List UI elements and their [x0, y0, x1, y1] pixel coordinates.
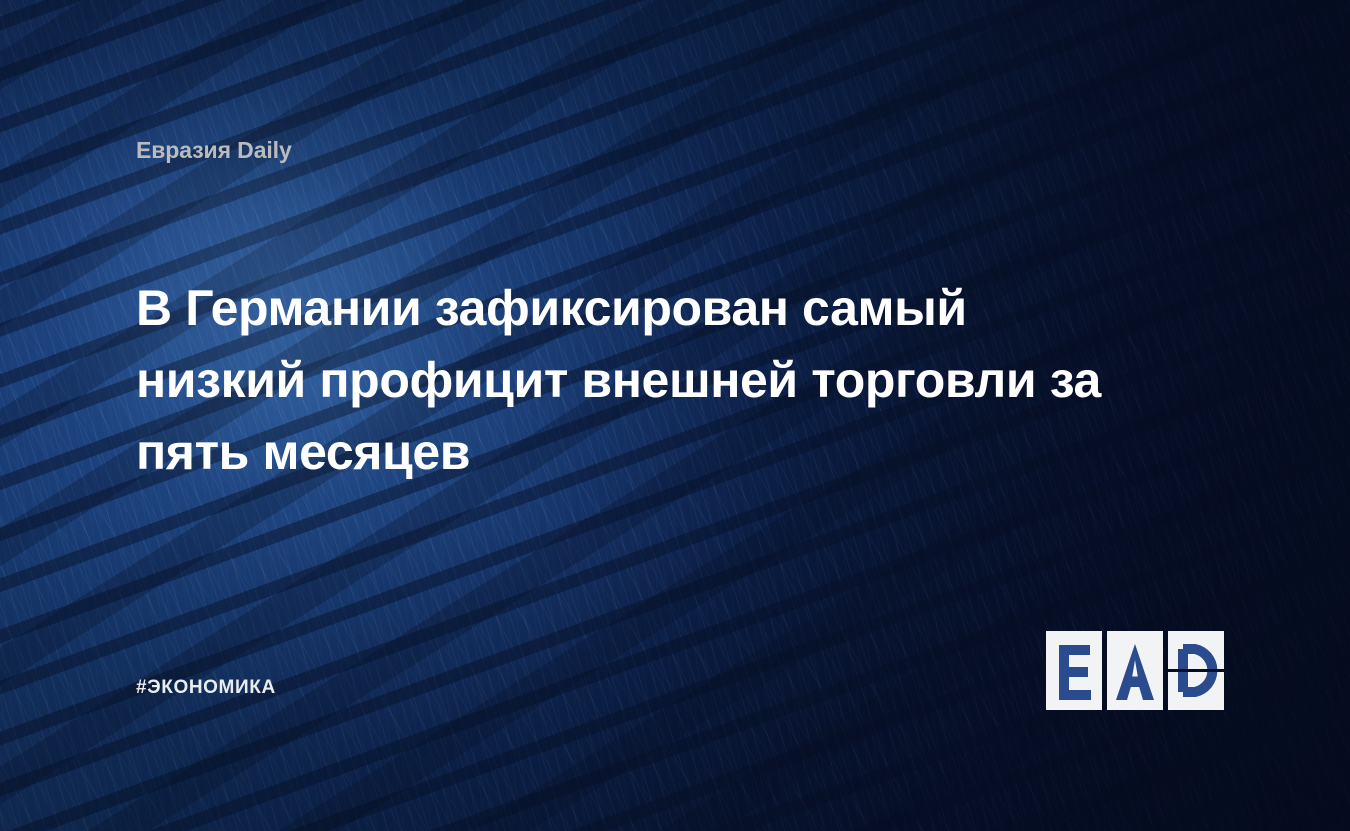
logo-letter-d-upper-icon: [1168, 631, 1224, 669]
card-content: Евразия Daily В Германии зафиксирован са…: [0, 0, 1350, 831]
eadaily-logo[interactable]: [1046, 631, 1222, 710]
logo-tile-a: [1107, 631, 1163, 710]
logo-letter-a-icon: [1107, 631, 1163, 710]
logo-letter-e-icon: [1046, 631, 1102, 710]
page-title: В Германии зафиксирован самый низкий про…: [136, 272, 1146, 488]
logo-tile-e: [1046, 631, 1102, 710]
logo-letter-d-lower-icon: [1168, 672, 1224, 710]
category-tag[interactable]: #ЭКОНОМИКА: [136, 677, 276, 699]
logo-tile-d-bottom: [1168, 672, 1224, 710]
brand-wordmark[interactable]: Евразия Daily: [136, 137, 292, 164]
logo-tile-d-top: [1168, 631, 1224, 669]
article-share-card: Евразия Daily В Германии зафиксирован са…: [0, 0, 1350, 831]
